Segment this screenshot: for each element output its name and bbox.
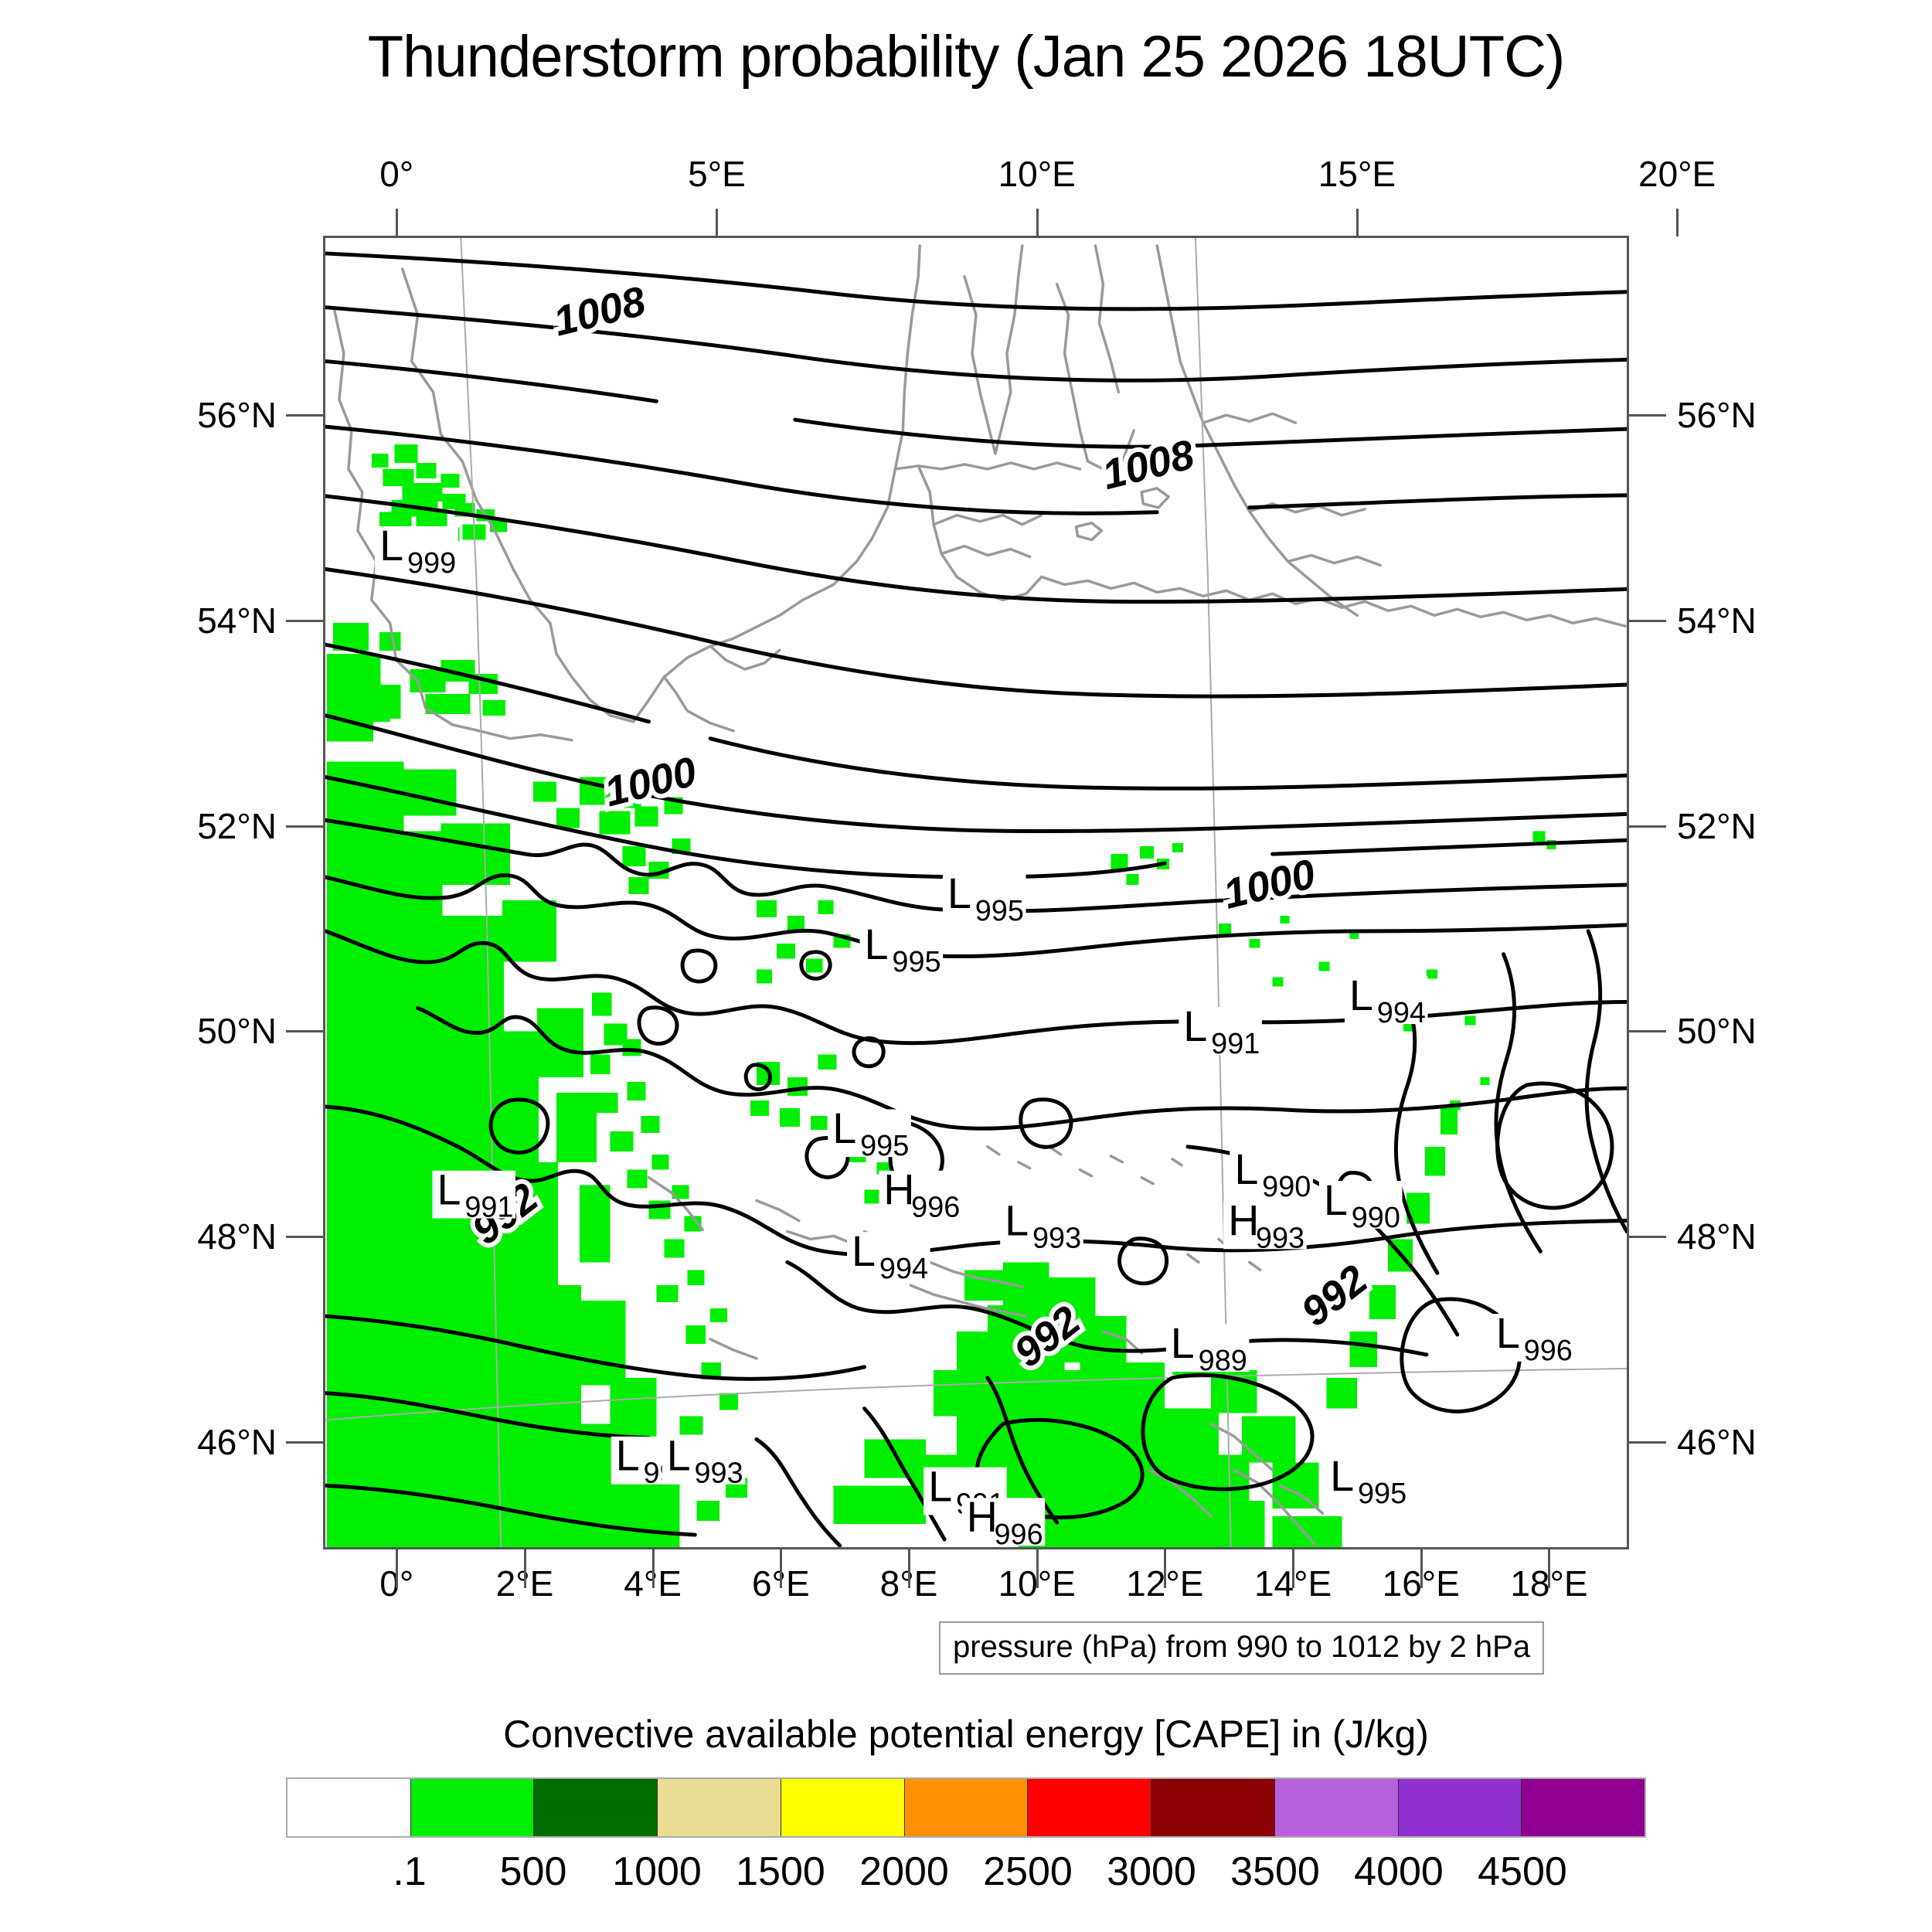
pressure-extremum-h: H996 (879, 1165, 962, 1224)
lon-label-top-2: 10°E (998, 153, 1076, 195)
colorbar-tick-0: .1 (393, 1849, 426, 1895)
axis-tick-mark (716, 209, 718, 236)
axis-tick-mark (1629, 1030, 1666, 1032)
colorbar-swatch-7 (1151, 1779, 1274, 1836)
axis-tick-mark (780, 1549, 782, 1588)
lat-label-left-3: 50°N (197, 1010, 277, 1052)
svg-text:L: L (1171, 1318, 1195, 1367)
axis-tick-mark (286, 825, 323, 828)
lat-label-right-5: 46°N (1677, 1421, 1757, 1463)
axis-tick-mark (396, 209, 398, 236)
axis-tick-mark (1164, 1549, 1166, 1588)
svg-text:1008: 1008 (1097, 431, 1199, 498)
svg-text:994: 994 (879, 1253, 928, 1285)
svg-text:L: L (1324, 1175, 1348, 1224)
pressure-extremum-l: L993 (662, 1431, 746, 1490)
colorbar-tick-labels: .150010001500200025003000350040004500 (286, 1849, 1646, 1910)
axis-tick-mark (1629, 1236, 1666, 1238)
colorbar-swatch-3 (657, 1779, 781, 1836)
lat-label-left-5: 46°N (197, 1421, 277, 1463)
svg-text:992: 992 (1293, 1256, 1376, 1335)
axis-tick-mark (396, 1549, 398, 1588)
svg-text:989: 989 (1199, 1345, 1247, 1377)
axis-tick-mark (1548, 1549, 1550, 1588)
colorbar-swatch-5 (904, 1779, 1028, 1836)
axis-tick-mark (1356, 209, 1359, 236)
colorbar-swatch-4 (781, 1779, 904, 1836)
contour-label: 10001000 (600, 748, 701, 815)
axis-tick-mark (908, 1549, 910, 1588)
colorbar-tick-6: 3000 (1107, 1849, 1196, 1895)
svg-text:L: L (928, 1461, 952, 1510)
svg-text:H: H (967, 1492, 998, 1541)
lon-label-top-1: 5°E (688, 153, 746, 195)
colorbar-swatch-8 (1274, 1779, 1398, 1836)
lat-label-right-4: 48°N (1677, 1216, 1757, 1257)
lat-label-right-1: 54°N (1677, 600, 1757, 641)
svg-text:L: L (1349, 971, 1373, 1019)
svg-text:999: 999 (407, 547, 456, 580)
colorbar-swatch-2 (533, 1779, 657, 1836)
svg-text:993: 993 (1256, 1222, 1304, 1254)
pressure-extremum-l: L989 (1166, 1318, 1250, 1377)
pressure-extremum-l: L995 (860, 920, 944, 978)
svg-text:990: 990 (1352, 1202, 1400, 1234)
svg-text:H: H (883, 1165, 914, 1214)
svg-text:995: 995 (975, 895, 1024, 927)
svg-text:H: H (1228, 1196, 1259, 1244)
svg-text:991: 991 (1211, 1028, 1260, 1060)
chart-page: Thunderstorm probability (Jan 25 2026 18… (0, 0, 1932, 1932)
svg-text:L: L (616, 1431, 640, 1480)
svg-text:996: 996 (1524, 1335, 1573, 1367)
svg-text:L: L (1496, 1308, 1520, 1357)
pressure-extremum-l: L994 (847, 1226, 930, 1285)
colorbar-swatch-10 (1521, 1779, 1645, 1836)
colorbar-tick-4: 2000 (859, 1849, 949, 1895)
axis-tick-mark (286, 620, 323, 622)
svg-text:994: 994 (1377, 997, 1426, 1029)
lat-label-left-2: 52°N (197, 805, 277, 847)
axis-tick-mark (1036, 209, 1039, 236)
pressure-extremum-l: L990 (1230, 1145, 1313, 1203)
colorbar (286, 1777, 1646, 1838)
svg-text:991: 991 (464, 1192, 513, 1224)
axis-tick-mark (652, 1549, 655, 1588)
colorbar-swatch-6 (1027, 1779, 1151, 1836)
colorbar-tick-3: 1500 (736, 1849, 825, 1895)
lon-label-top-3: 15°E (1318, 153, 1396, 195)
svg-text:L: L (1330, 1451, 1354, 1500)
svg-text:996: 996 (911, 1192, 960, 1224)
colorbar-tick-9: 4500 (1478, 1849, 1567, 1895)
axis-tick-mark (1036, 1549, 1039, 1588)
pressure-extremum-l: L995 (943, 869, 1026, 927)
pressure-extremum-l: L995 (828, 1104, 911, 1162)
axis-tick-mark (286, 1030, 323, 1032)
svg-text:L: L (379, 521, 403, 570)
contour-label: 10081008 (1097, 431, 1199, 498)
pressure-extremum-l: L990 (1319, 1175, 1403, 1234)
lat-label-right-3: 50°N (1677, 1010, 1757, 1052)
svg-text:L: L (667, 1431, 691, 1480)
lon-label-top-0: 0° (379, 153, 413, 195)
pressure-extremum-l: L993 (1000, 1196, 1083, 1254)
axis-tick-mark (286, 414, 323, 417)
pressure-legend-note: pressure (hPa) from 990 to 1012 by 2 hPa (939, 1621, 1544, 1675)
pressure-extremum-h: H996 (962, 1492, 1046, 1547)
svg-text:1000: 1000 (600, 748, 701, 815)
pressure-extremum-l: L996 (1492, 1308, 1575, 1367)
svg-text:995: 995 (892, 946, 940, 978)
axis-tick-mark (1629, 1441, 1666, 1444)
pressure-extremum-l: L991 (1179, 1002, 1262, 1060)
svg-text:L: L (852, 1226, 876, 1275)
colorbar-tick-1: 500 (500, 1849, 567, 1895)
colorbar-tick-8: 4000 (1354, 1849, 1444, 1895)
svg-text:L: L (832, 1104, 856, 1152)
axis-tick-mark (286, 1441, 323, 1444)
map-canvas: 1008100810081008100010001000100099299299… (325, 238, 1627, 1547)
axis-tick-mark (1629, 620, 1666, 622)
pressure-extremum-l: L999 (375, 521, 458, 580)
colorbar-swatch-9 (1398, 1779, 1522, 1836)
svg-text:1000: 1000 (1219, 851, 1320, 918)
lat-label-left-4: 48°N (197, 1216, 277, 1257)
svg-text:993: 993 (695, 1458, 743, 1490)
contour-label: 10001000 (1219, 851, 1320, 918)
lat-label-right-2: 52°N (1677, 805, 1757, 847)
svg-text:995: 995 (860, 1130, 909, 1162)
axis-tick-mark (524, 1549, 526, 1588)
axis-tick-mark (1676, 209, 1679, 236)
lat-label-left-0: 56°N (197, 394, 277, 436)
svg-text:L: L (865, 920, 889, 968)
svg-text:L: L (947, 869, 971, 917)
contour-label: 992992 (1293, 1256, 1376, 1335)
axis-tick-mark (1420, 1549, 1423, 1588)
pressure-extremum-l: L995 (1325, 1451, 1409, 1510)
axis-tick-mark (286, 1236, 323, 1238)
pressure-extremum-l: L991 (432, 1165, 515, 1224)
axis-tick-mark (1629, 825, 1666, 828)
svg-text:L: L (1234, 1145, 1258, 1193)
colorbar-swatch-1 (410, 1779, 534, 1836)
lon-label-top-4: 20°E (1638, 153, 1716, 195)
svg-text:L: L (1183, 1002, 1207, 1050)
axis-tick-mark (1292, 1549, 1294, 1588)
axis-tick-mark (1629, 414, 1666, 417)
colorbar-title: Convective available potential energy [C… (0, 1712, 1932, 1757)
svg-text:L: L (1005, 1196, 1029, 1244)
pressure-extremum-h: H993 (1223, 1196, 1307, 1254)
lat-label-right-0: 56°N (1677, 394, 1757, 436)
svg-text:993: 993 (1032, 1222, 1081, 1254)
map-plot-area: 1008100810081008100010001000100099299299… (323, 236, 1629, 1549)
svg-text:990: 990 (1262, 1171, 1311, 1203)
colorbar-swatch-0 (287, 1779, 410, 1836)
page-title: Thunderstorm probability (Jan 25 2026 18… (0, 23, 1932, 90)
colorbar-tick-7: 3500 (1230, 1849, 1320, 1895)
svg-text:996: 996 (994, 1519, 1043, 1547)
svg-text:995: 995 (1358, 1478, 1406, 1510)
colorbar-tick-2: 1000 (612, 1849, 702, 1895)
lat-label-left-1: 54°N (197, 600, 277, 641)
pressure-extremum-l: L994 (1345, 971, 1428, 1029)
svg-text:L: L (437, 1165, 461, 1214)
colorbar-tick-5: 2500 (983, 1849, 1073, 1895)
